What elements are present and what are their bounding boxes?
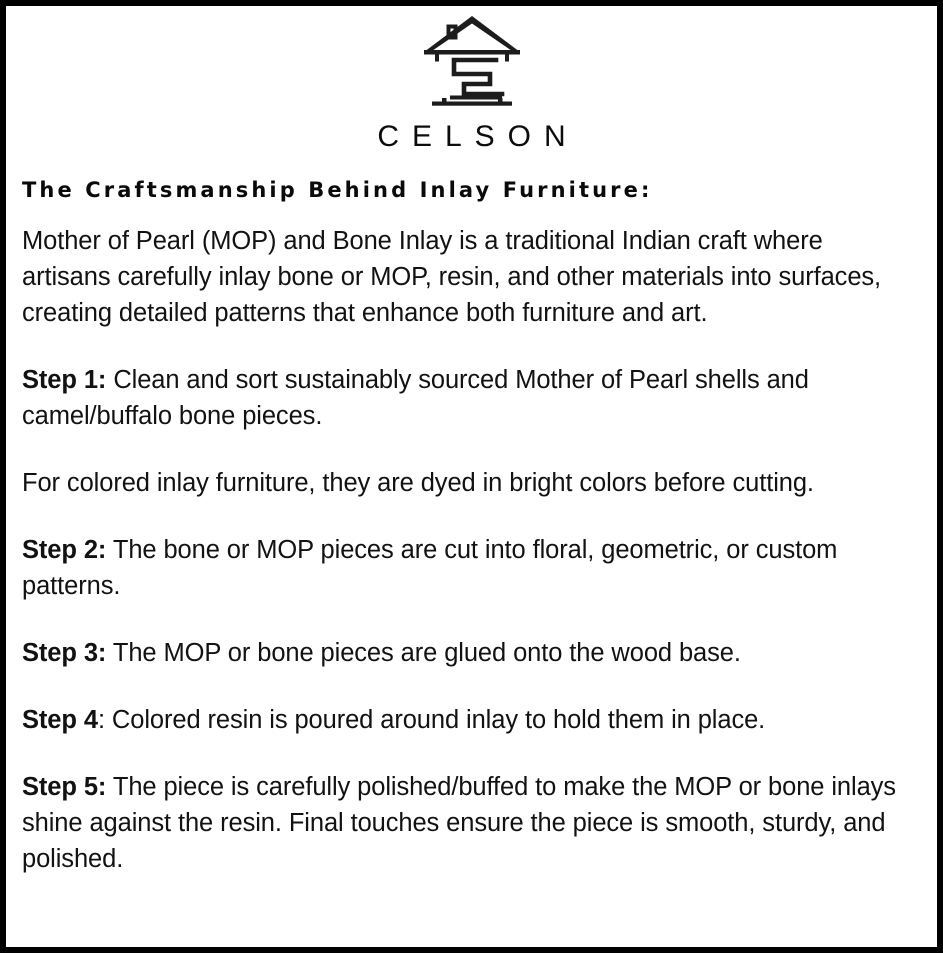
- paragraph-text: The bone or MOP pieces are cut into flor…: [22, 536, 837, 600]
- step-label: Step 5:: [22, 773, 106, 801]
- brand-block: CELSON: [16, 6, 927, 152]
- paragraph-step-3: Step 3: The MOP or bone pieces are glued…: [22, 635, 912, 671]
- page-title: The Craftsmanship Behind Inlay Furniture…: [22, 178, 927, 203]
- paragraph-intro: Mother of Pearl (MOP) and Bone Inlay is …: [22, 223, 912, 331]
- step-label: Step 2:: [22, 536, 106, 564]
- paragraph-text: For colored inlay furniture, they are dy…: [22, 469, 814, 497]
- paragraph-text: The piece is carefully polished/buffed t…: [22, 773, 896, 873]
- paragraph-step-2: Step 2: The bone or MOP pieces are cut i…: [22, 532, 912, 604]
- body-copy: Mother of Pearl (MOP) and Bone Inlay is …: [22, 203, 927, 877]
- brand-wordmark: CELSON: [16, 122, 927, 152]
- step-label-suffix: :: [98, 706, 105, 734]
- paragraph-colored-inlay-note: For colored inlay furniture, they are dy…: [22, 465, 912, 501]
- step-label: Step 1:: [22, 366, 106, 394]
- paragraph-step-1: Step 1: Clean and sort sustainably sourc…: [22, 362, 912, 434]
- step-label: Step 3:: [22, 639, 106, 667]
- paragraph-text: Clean and sort sustainably sourced Mothe…: [22, 366, 809, 430]
- paragraph-text: Colored resin is poured around inlay to …: [105, 706, 765, 734]
- poster-card: CELSON The Craftsmanship Behind Inlay Fu…: [0, 0, 943, 953]
- paragraph-text: The MOP or bone pieces are glued onto th…: [106, 639, 741, 667]
- paragraph-step-5: Step 5: The piece is carefully polished/…: [22, 769, 912, 877]
- paragraph-text: Mother of Pearl (MOP) and Bone Inlay is …: [22, 227, 881, 327]
- paragraph-step-4: Step 4: Colored resin is poured around i…: [22, 702, 912, 738]
- poster-content: CELSON The Craftsmanship Behind Inlay Fu…: [6, 6, 937, 947]
- house-monogram-logo-icon: [420, 12, 524, 108]
- step-label: Step 4: [22, 706, 98, 734]
